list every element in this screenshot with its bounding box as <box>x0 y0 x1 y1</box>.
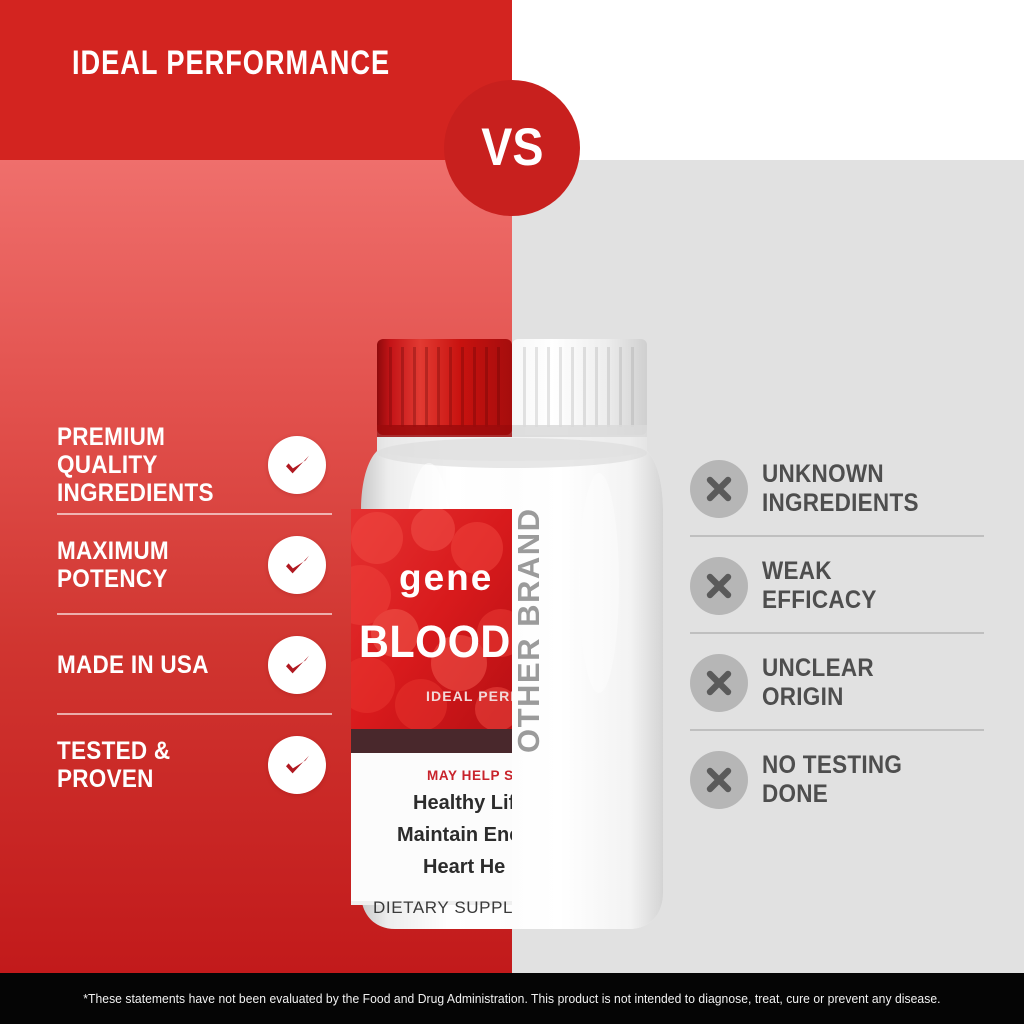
label-claim-3: Heart He <box>423 857 505 877</box>
label-brand-name: gene <box>399 559 493 596</box>
drawbacks-list: UNKNOWN INGREDIENTS WEAK EFFICACY <box>690 440 990 828</box>
check-icon <box>268 536 326 594</box>
comparison-infographic: IDEAL PERFORMANCE Other Brands VS PREMIU… <box>0 0 1024 1024</box>
x-icon <box>690 460 748 518</box>
check-icon <box>268 636 326 694</box>
check-icon <box>268 736 326 794</box>
label-supplement-type: DIETARY SUPPLEM <box>373 899 512 916</box>
benefit-row: PREMIUM QUALITY INGREDIENTS <box>0 415 340 515</box>
vs-badge: VS <box>444 80 580 216</box>
left-column-title: IDEAL PERFORMANCE <box>72 46 390 80</box>
benefit-row: MADE IN USA <box>0 615 340 715</box>
left-header-band: IDEAL PERFORMANCE <box>0 0 512 160</box>
label-claim-1: Healthy Lif <box>413 793 512 813</box>
right-header-band: Other Brands <box>512 0 1024 160</box>
product-bottle-image: gene BLOOD C IDEAL PERFOR MAY HELP SU He… <box>337 333 687 948</box>
drawback-label: UNKNOWN INGREDIENTS <box>762 460 919 517</box>
check-icon <box>268 436 326 494</box>
label-claims-heading: MAY HELP SU <box>427 769 512 783</box>
benefits-list: PREMIUM QUALITY INGREDIENTS MAXIMUM POTE… <box>0 415 340 815</box>
drawback-row: UNCLEAR ORIGIN <box>690 634 990 731</box>
benefit-label: MADE IN USA <box>57 651 209 679</box>
benefit-row: TESTED & PROVEN <box>0 715 340 815</box>
drawback-row: UNKNOWN INGREDIENTS <box>690 440 990 537</box>
drawback-label: UNCLEAR ORIGIN <box>762 654 874 711</box>
label-tagline: IDEAL PERFOR <box>426 689 512 703</box>
benefit-label: TESTED & PROVEN <box>57 737 170 794</box>
other-brand-vertical-label: OTHER BRAND <box>513 507 544 753</box>
benefit-label: PREMIUM QUALITY INGREDIENTS <box>57 423 214 508</box>
drawback-row: WEAK EFFICACY <box>690 537 990 634</box>
fda-disclaimer-text: *These statements have not been evaluate… <box>83 992 940 1006</box>
drawback-label: NO TESTING DONE <box>762 751 902 808</box>
x-icon <box>690 654 748 712</box>
benefit-label: MAXIMUM POTENCY <box>57 537 169 594</box>
footer-disclaimer-bar: *These statements have not been evaluate… <box>0 973 1024 1024</box>
label-product-title: BLOOD C <box>359 619 512 664</box>
drawback-row: NO TESTING DONE <box>690 731 990 828</box>
label-claim-2: Maintain Ener <box>397 825 512 845</box>
benefit-row: MAXIMUM POTENCY <box>0 515 340 615</box>
x-icon <box>690 751 748 809</box>
product-label-front: gene BLOOD C IDEAL PERFOR MAY HELP SU He… <box>337 333 512 948</box>
vs-badge-label: VS <box>481 121 543 176</box>
drawback-label: WEAK EFFICACY <box>762 557 877 614</box>
x-icon <box>690 557 748 615</box>
